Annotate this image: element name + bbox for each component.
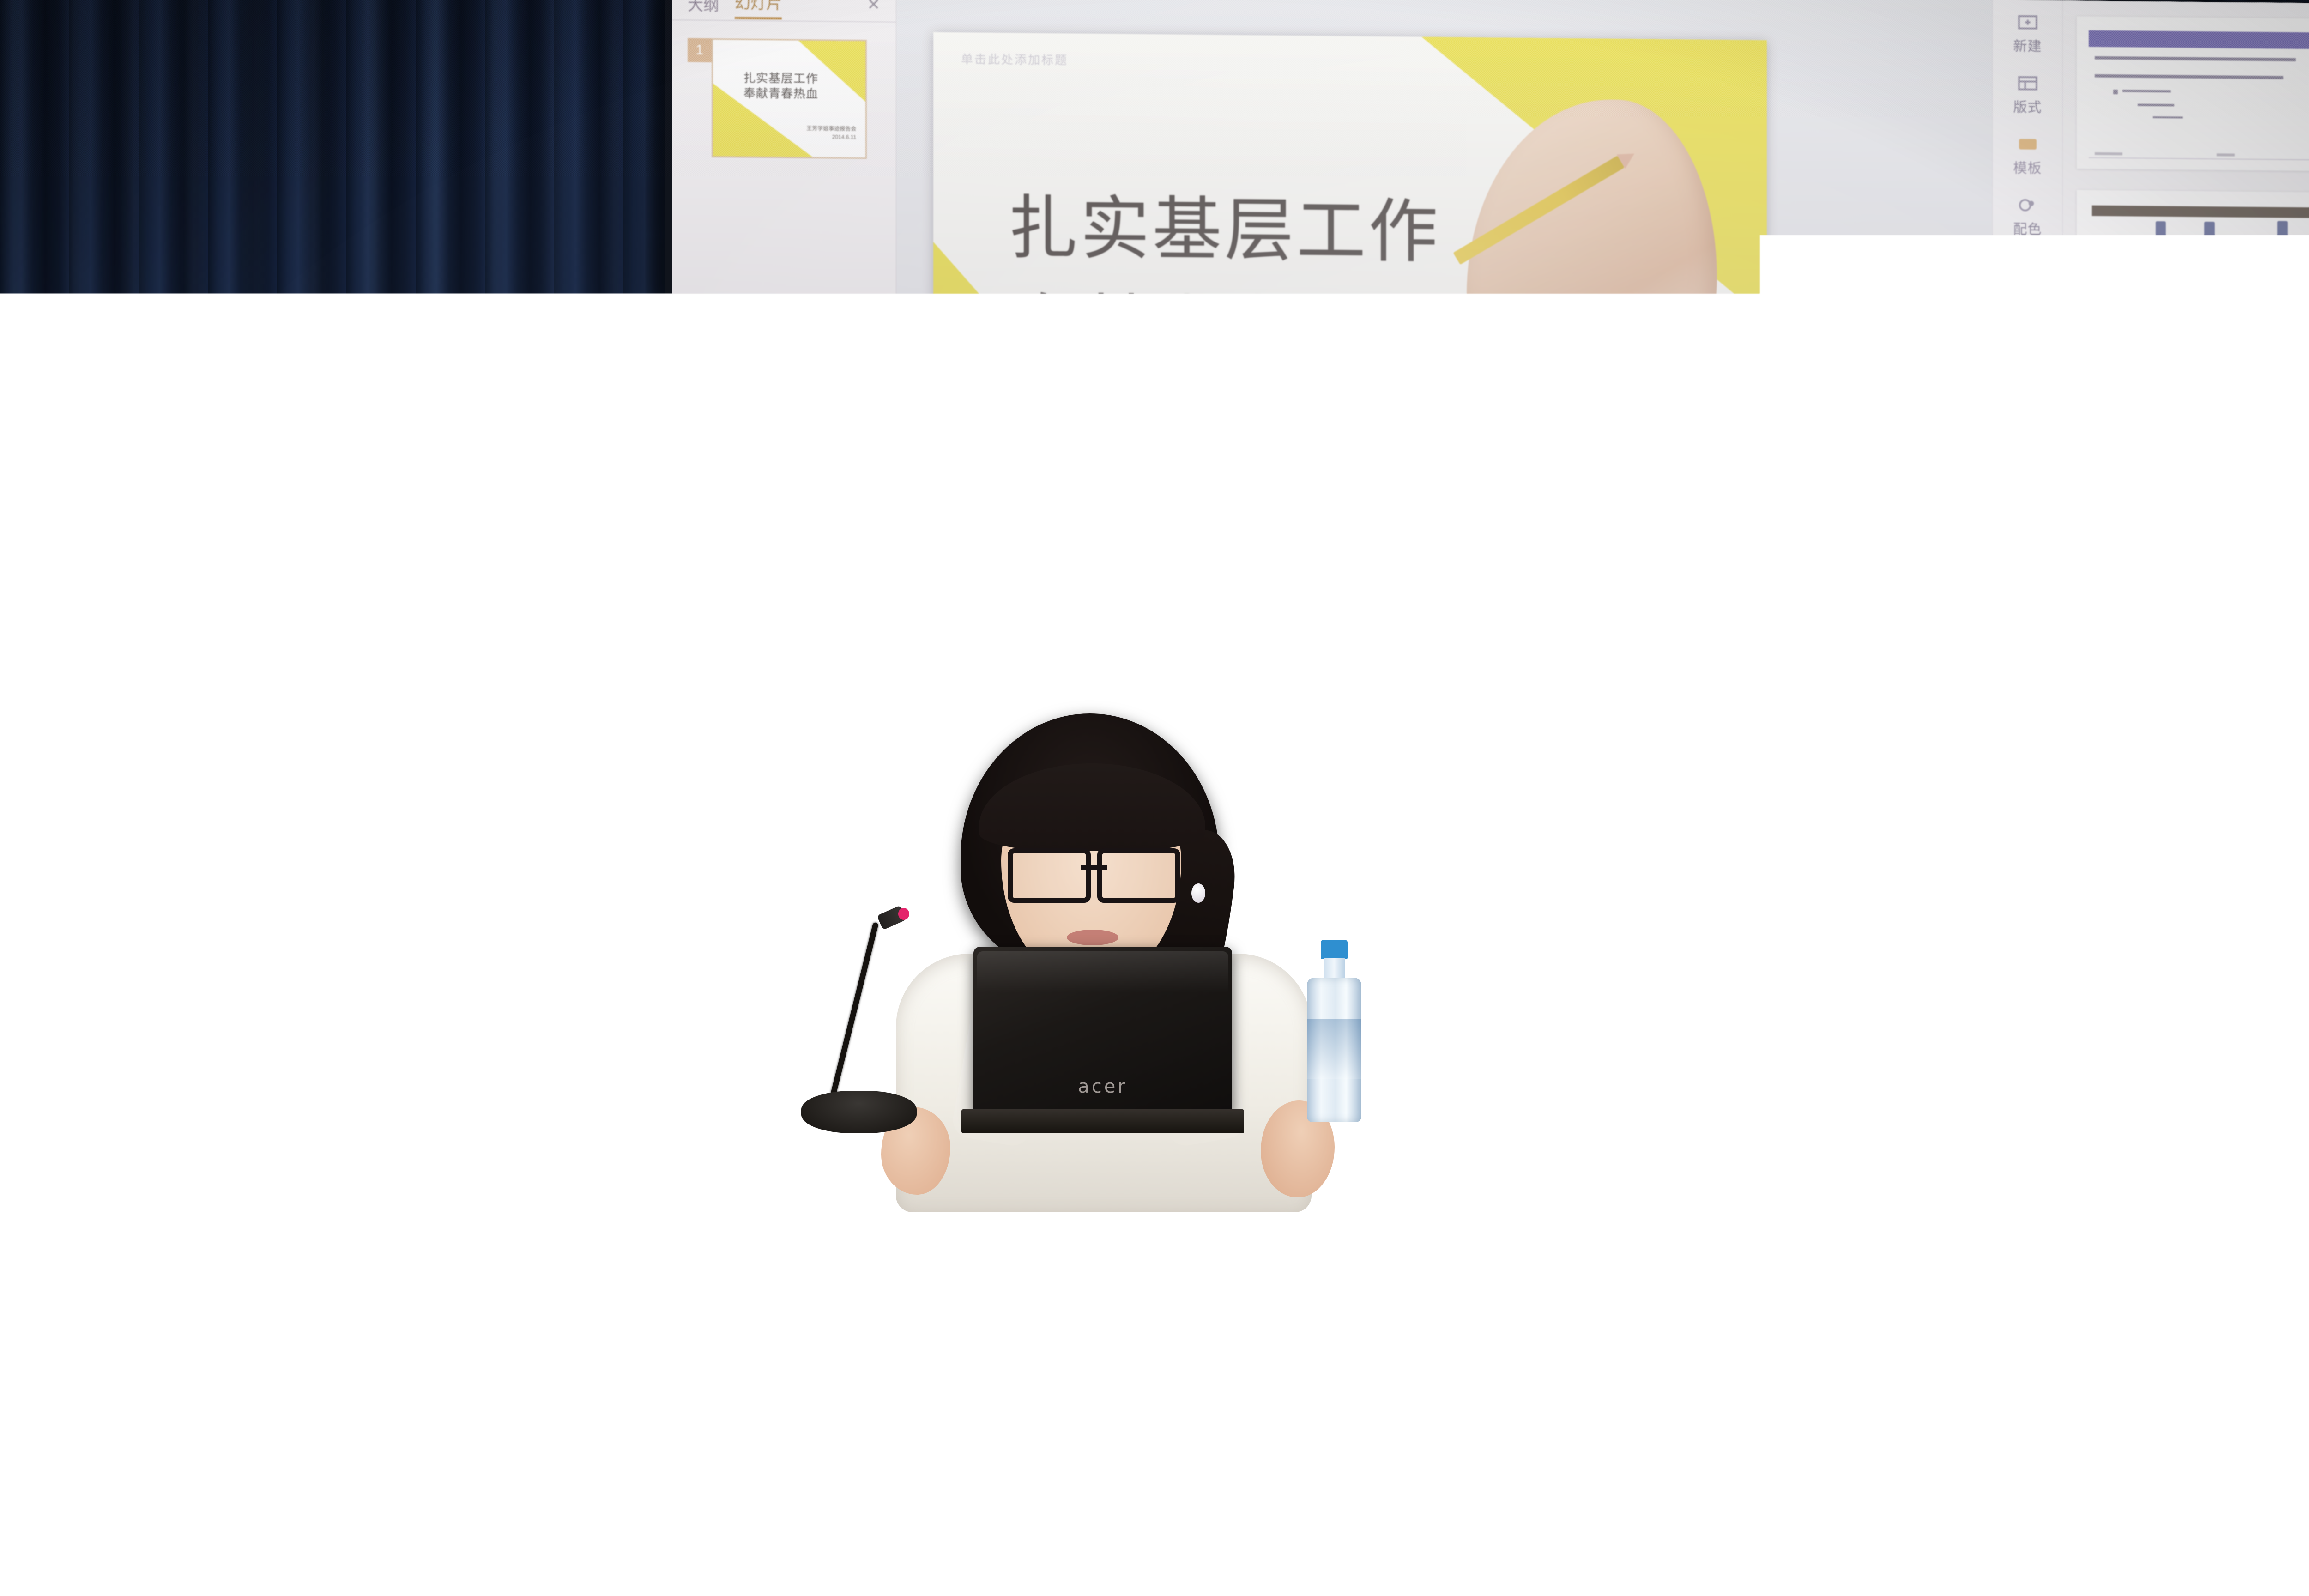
transition-icon: [2017, 318, 2038, 336]
more-templates-label[interactable]: 更多模板: [2120, 918, 2187, 941]
rail-label-template: 模板: [2013, 157, 2042, 177]
rail-item-share[interactable]: 分享: [1993, 552, 2062, 614]
backup-icon: [2017, 623, 2038, 641]
rail-item-effect[interactable]: 效果: [1993, 369, 2062, 431]
design-pane: 新建 版式 模板 配色: [1992, 0, 2309, 950]
slide-title-line1: 扎实基层工作: [1008, 179, 1575, 283]
laptop-base: [961, 1109, 1244, 1133]
volume-icon[interactable]: [2263, 992, 2275, 1004]
template-icon: [2017, 135, 2038, 153]
zoom-out-button[interactable]: –: [2096, 953, 2104, 971]
t1-footer-rule: [2089, 157, 2309, 161]
t4-page: [2101, 547, 2309, 685]
view-button-sorter[interactable]: [1985, 951, 2006, 971]
notes-toggle-label[interactable]: 备注: [1916, 951, 1943, 970]
audience-member-scalp: [203, 1506, 342, 1596]
loudspeaker-box: [1686, 1353, 1903, 1596]
more-templates-icon: [2089, 919, 2110, 938]
rail-item-transition[interactable]: 切换: [1993, 308, 2062, 370]
t2-node-2: [2204, 222, 2214, 248]
slide-date: 2014.6.11: [1459, 508, 1692, 551]
microphone-gooseneck: [827, 922, 879, 1112]
rail-item-layout[interactable]: 版式: [1993, 65, 2062, 126]
t2-link-1: [2107, 246, 2265, 259]
status-right-group: 备注 56 % – +: [1916, 950, 2309, 975]
new-slide-icon: [2017, 13, 2038, 31]
rail-item-border[interactable]: 边框: [1993, 248, 2062, 309]
design-rail: 新建 版式 模板 配色: [1993, 0, 2063, 947]
slide-title[interactable]: 扎实基层工作 奉献青春热血: [1008, 179, 1575, 381]
t2-blue-corner: [2296, 192, 2309, 266]
t2-rule: [2092, 312, 2309, 316]
network-icon[interactable]: [2207, 992, 2219, 1004]
glasses-bridge: [1081, 865, 1107, 870]
thumb-subtitle: 王芳学姐事迹报告会: [806, 124, 856, 133]
water-bottle: [1307, 940, 1361, 1122]
rail-label-comment: 批注: [2013, 522, 2042, 543]
zoom-slider-handle[interactable]: [2183, 957, 2187, 970]
thumb-title-line2: 奉献青春热血: [743, 85, 844, 102]
rail-item-colorscheme[interactable]: 配色: [1993, 187, 2062, 248]
tab-outline[interactable]: 大纲: [688, 0, 719, 19]
audience-member-shoulder: [0, 1579, 139, 1596]
t1-line-1: [2095, 56, 2295, 61]
layout-icon: [2017, 74, 2038, 92]
bottle-neck: [1324, 958, 1345, 979]
view-button-reading[interactable]: [2016, 951, 2037, 972]
glasses-lens-left: [1008, 848, 1091, 903]
system-tray[interactable]: 10:32 2014/6/11: [2185, 983, 2309, 1015]
template-item-3[interactable]: [2077, 363, 2309, 519]
tray-expand-icon[interactable]: [2185, 992, 2192, 1004]
t1-line-5: [2153, 116, 2183, 118]
bottle-cap: [1321, 940, 1348, 959]
t1-header-bar: [2089, 30, 2309, 49]
t1-line-4: [2138, 104, 2174, 107]
effect-icon: [2017, 379, 2038, 397]
speaker-label-tag: [1852, 1387, 1886, 1408]
t2-node-4: [2098, 237, 2108, 263]
photograph-scene: 大纲 幻灯片 ✕ 1 扎实基层工作 奉献青春热血: [0, 0, 2309, 1596]
t2-node-5: [2262, 242, 2272, 268]
view-button-normal[interactable]: [1953, 951, 1975, 971]
slide-placeholder-text[interactable]: 单击此处添加标题: [961, 50, 1068, 68]
t1-bullet-1: [2113, 90, 2118, 94]
template-thumbnail-list[interactable]: 更多模板 ▾: [2063, 0, 2309, 950]
laptop-lid-sheen: [977, 951, 1228, 993]
rail-item-template[interactable]: 模板: [1993, 126, 2062, 187]
close-icon[interactable]: ✕: [867, 0, 881, 14]
t4-line-5: [2174, 629, 2207, 632]
rail-item-backup[interactable]: 备份: [1993, 613, 2062, 675]
t2-node-3: [2277, 221, 2287, 247]
thumb-date: 2014.6.11: [806, 133, 856, 141]
share-icon: [2017, 562, 2038, 580]
microphone: [829, 910, 967, 1122]
t2-node-1: [2156, 221, 2166, 247]
template-item-4[interactable]: [2077, 537, 2309, 692]
microphone-led-icon: [898, 908, 909, 920]
assets-icon: [2017, 440, 2038, 458]
t2-top-bar: [2092, 206, 2309, 219]
slide-panel-tabs: 大纲 幻灯片: [672, 0, 896, 21]
rail-label-layout: 版式: [2013, 96, 2042, 116]
speaker-screw: [1803, 1455, 1808, 1460]
current-slide[interactable]: 单击此处添加标题 扎实基层工作 奉献青春热血 王芳学姐事迹报告会 2014.6.…: [933, 32, 1767, 650]
chevron-down-icon[interactable]: ▾: [2197, 923, 2203, 937]
rail-label-assets: 素材: [2013, 461, 2042, 482]
comment-icon: [2017, 501, 2038, 519]
tab-slides[interactable]: 幻灯片: [735, 0, 782, 19]
start-tile[interactable]: [737, 984, 766, 1000]
rail-label-transition: 切换: [2013, 339, 2042, 360]
template-item-1[interactable]: [2077, 16, 2309, 171]
thumb-subtitle-block: 王芳学姐事迹报告会 2014.6.11: [806, 124, 856, 141]
more-templates-row[interactable]: 更多模板 ▾: [2063, 917, 2309, 943]
start-tile[interactable]: [737, 965, 766, 981]
t2-bottom-bar: [2092, 327, 2309, 341]
start-tile[interactable]: [737, 945, 766, 961]
shield-icon[interactable]: [2291, 993, 2303, 1005]
thumb-title-line1: 扎实基层工作: [743, 70, 844, 86]
presenter-glasses: [1008, 848, 1180, 893]
slide-subtitle: 王芳学姐事迹报告会: [1459, 467, 1692, 510]
laptop-lid: acer: [973, 947, 1232, 1113]
rail-label-colorscheme: 配色: [2013, 218, 2042, 238]
presenter-earring: [1191, 883, 1205, 903]
template-item-2[interactable]: [2077, 190, 2309, 345]
rail-label-new: 新建: [2013, 35, 2042, 55]
input-method-icon[interactable]: [2235, 992, 2247, 1004]
rail-item-comment[interactable]: 批注: [1993, 491, 2062, 553]
laptop-brand-logo: acer: [973, 1076, 1232, 1097]
t3-yellow-bottomleft: [2083, 406, 2210, 502]
zoom-level-value: 56 %: [2054, 954, 2085, 970]
t1-line-3: [2122, 90, 2171, 93]
t1-footer-left: [2095, 152, 2122, 156]
t1-footer-mid: [2217, 154, 2235, 157]
rail-label-border: 边框: [2013, 278, 2042, 299]
slide-number: 1: [688, 38, 712, 62]
start-tile[interactable]: [770, 946, 798, 962]
podium-wood-grain: [649, 1146, 1521, 1596]
rail-label-effect: 效果: [2013, 400, 2042, 421]
slide-title-line2: 奉献青春热血: [1008, 278, 1575, 381]
glasses-lens-right: [1097, 848, 1180, 903]
rail-item-assets[interactable]: 素材: [1993, 430, 2062, 492]
zoom-slider-fill: [2115, 961, 2183, 964]
microphone-base: [801, 1091, 917, 1133]
start-button-label[interactable]: 开始: [743, 921, 773, 942]
slide-thumbnail-row[interactable]: 1 扎实基层工作 奉献青春热血 王芳学姐事迹报告会 2014.6.11: [688, 38, 867, 159]
start-tile[interactable]: [770, 965, 798, 981]
rail-label-backup: 备份: [2013, 644, 2042, 665]
thumb-title: 扎实基层工作 奉献青春热血: [743, 70, 844, 102]
slide-meta[interactable]: 王芳学姐事迹报告会 2014.6.11: [1459, 467, 1692, 551]
rail-item-new[interactable]: 新建: [1993, 4, 2062, 65]
laptop: acer: [973, 947, 1232, 1131]
presenter-mouth: [1067, 930, 1118, 945]
t3-yellow-topright: [2247, 375, 2309, 437]
t4-line-4: [2156, 613, 2195, 616]
t1-line-2: [2095, 74, 2283, 79]
speaker-screw: [1727, 1442, 1731, 1447]
border-icon: [2017, 257, 2038, 275]
t4-spiral-binding: [2086, 546, 2095, 681]
t4-line-3: [2138, 596, 2186, 598]
color-scheme-icon: [2017, 196, 2038, 214]
start-tile[interactable]: [770, 985, 798, 1001]
bottle-label: [1307, 1019, 1361, 1079]
zoom-slider-track[interactable]: [2115, 961, 2309, 966]
t3-pencil: [2303, 398, 2309, 421]
rail-label-share: 分享: [2013, 583, 2042, 604]
slide-thumbnail-1[interactable]: 扎实基层工作 奉献青春热血 王芳学姐事迹报告会 2014.6.11: [712, 38, 867, 159]
